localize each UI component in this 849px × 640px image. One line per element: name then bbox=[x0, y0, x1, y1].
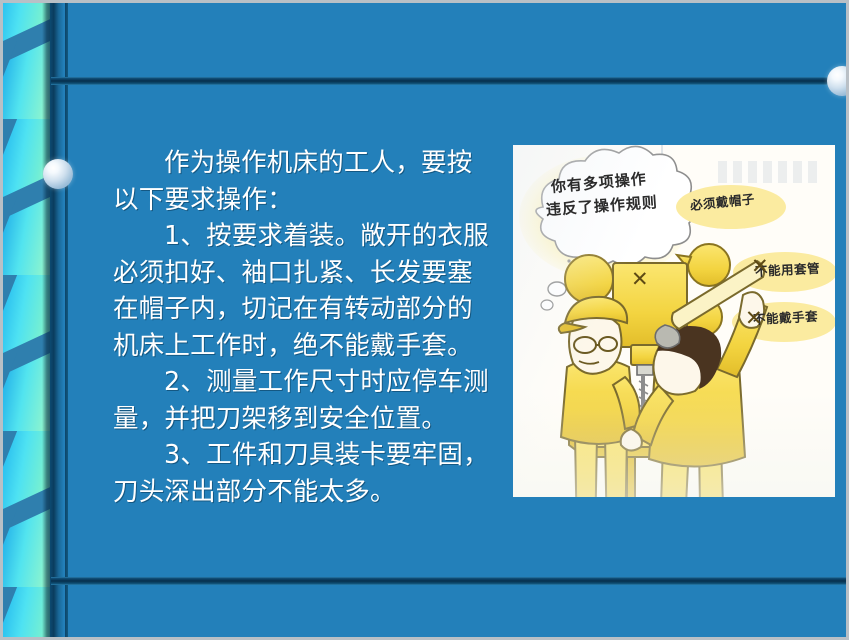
divider-top bbox=[51, 77, 846, 85]
x-mark-gloves: ✕ bbox=[745, 306, 763, 330]
paragraph-rule-1: 1、按要求着装。敞开的衣服必须扣好、袖口扎紧、长发要塞在帽子内，切记在有转动部分… bbox=[113, 218, 493, 364]
bead-left-icon bbox=[43, 159, 73, 189]
ribbon-edge-outer bbox=[65, 3, 68, 637]
x-mark-sleeve: ✕ bbox=[751, 254, 769, 278]
body-text: 作为操作机床的工人，要按以下要求操作： 1、按要求着装。敞开的衣服必须扣好、袖口… bbox=[113, 145, 493, 510]
divider-bottom bbox=[51, 577, 846, 585]
paragraph-rule-2: 2、测量工作尺寸时应停车测量，并把刀架移到安全位置。 bbox=[113, 364, 493, 437]
paragraph-rule-3: 3、工件和刀具装卡要牢固，刀头深出部分不能太多。 bbox=[113, 437, 493, 510]
bead-right-icon bbox=[827, 66, 849, 96]
x-mark-machine: ✕ bbox=[631, 267, 649, 291]
ribbon-edge-inner bbox=[50, 3, 54, 637]
paragraph-intro: 作为操作机床的工人，要按以下要求操作： bbox=[113, 145, 493, 218]
slide: 作为操作机床的工人，要按以下要求操作： 1、按要求着装。敞开的衣服必须扣好、袖口… bbox=[0, 0, 849, 640]
left-ribbon-band bbox=[3, 3, 50, 637]
